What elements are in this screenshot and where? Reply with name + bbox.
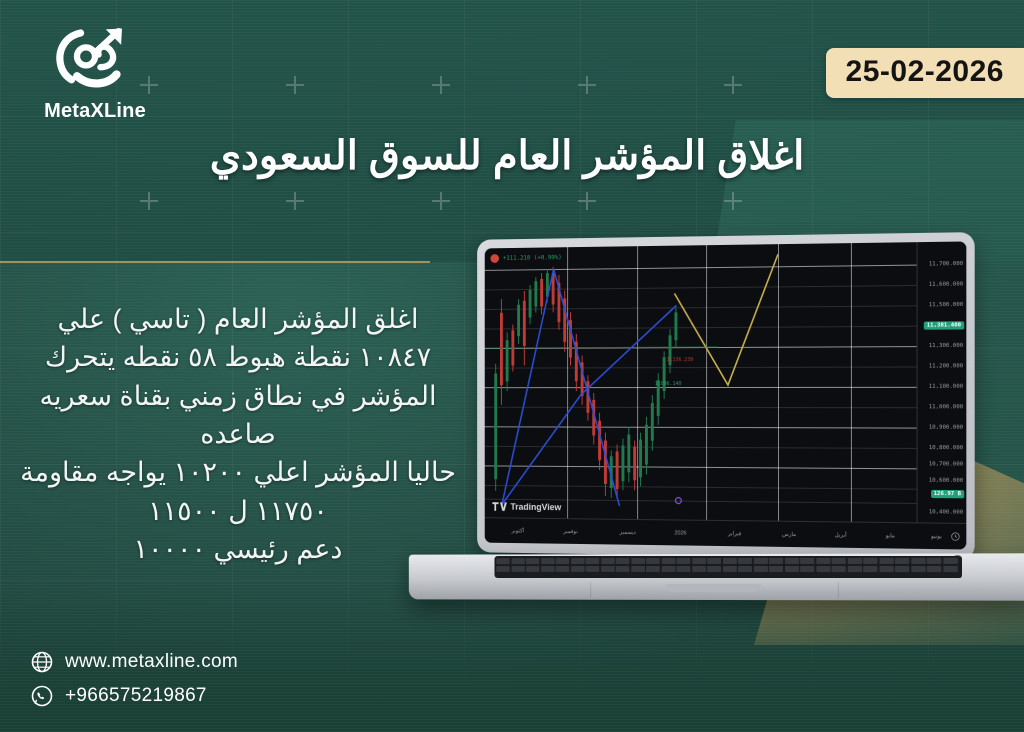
price-tick: 11,500.000 — [929, 302, 963, 308]
time-tick: أبريل — [835, 532, 847, 538]
website-row[interactable]: www.metaxline.com — [30, 650, 238, 674]
time-tick: مارس — [782, 531, 796, 537]
page-title: اغلاق المؤشر العام للسوق السعودي — [150, 131, 864, 181]
chart-overlay-lines — [485, 242, 917, 522]
price-tick: 11,600.000 — [929, 281, 963, 287]
tradingview-mark-icon — [492, 502, 507, 512]
body-copy: اغلق المؤشر العام ( تاسي ) علي ١٠٨٤٧ نقط… — [18, 300, 458, 568]
price-axis[interactable]: 11,700.000 11,600.000 11,500.000 11,381.… — [917, 241, 967, 522]
time-tick: ديسمبر — [620, 529, 636, 535]
phone-text: +966575219867 — [65, 685, 207, 707]
current-price-badge: 11,381.400 — [924, 321, 965, 329]
globe-icon — [30, 650, 54, 674]
footer-contact: www.metaxline.com +966575219867 — [30, 650, 238, 718]
time-tick: نوفمبر — [563, 528, 577, 534]
time-tick: فبراير — [728, 531, 741, 537]
brand-logo: MetaXLine — [30, 24, 160, 123]
body-line: اغلق المؤشر العام ( تاسي ) علي — [18, 300, 458, 338]
price-tick: 11,000.000 — [929, 404, 963, 410]
laptop-mockup: +111.210 (+0.99%) — [398, 236, 1024, 636]
price-tick: 10,400.000 — [929, 509, 963, 516]
laptop-keyboard — [494, 556, 962, 579]
circular-arrow-chart-icon — [49, 24, 141, 96]
chart-annotation: 11136.230 — [667, 357, 694, 363]
body-line: حاليا المؤشر اعلي ١٠٢٠٠ يواجه مقاومة — [18, 453, 458, 491]
price-tick: 10,700.000 — [929, 461, 963, 467]
price-tick: 11,700.000 — [929, 261, 963, 268]
tradingview-logo: TradingView — [492, 502, 561, 513]
price-tick: 11,200.000 — [929, 363, 963, 369]
price-tick: 11,300.000 — [929, 343, 963, 349]
price-tick: 10,800.000 — [929, 445, 963, 451]
brand-name: MetaXLine — [30, 100, 160, 123]
body-line: ١١٧٥٠ ل ١١٥٠٠ — [18, 492, 458, 530]
price-tick: 10,900.000 — [929, 425, 963, 431]
price-tick: 10,600.000 — [929, 478, 963, 484]
volume-badge: 126.97 B — [931, 490, 965, 498]
time-tick: أكتوبر — [511, 528, 524, 534]
website-text: www.metaxline.com — [65, 651, 238, 673]
chart-plot-area: +111.210 (+0.99%) — [485, 242, 917, 522]
body-line: المؤشر في نطاق زمني بقناة سعريه — [18, 377, 458, 415]
body-line: ١٠٨٤٧ نقطة هبوط ٥٨ نقطه يتحرك — [18, 338, 458, 376]
time-axis[interactable]: أكتوبر نوفمبر ديسمبر 2026 فبراير مارس أب… — [485, 517, 967, 549]
tradingview-label: TradingView — [510, 502, 561, 512]
laptop-screen-lid: +111.210 (+0.99%) — [477, 232, 975, 560]
time-tick: يونيو — [931, 533, 942, 539]
clock-icon[interactable] — [951, 532, 960, 541]
time-tick: 2026 — [674, 530, 686, 536]
phone-row[interactable]: +966575219867 — [30, 684, 238, 708]
body-line: صاعده — [18, 415, 458, 453]
chart-screen: +111.210 (+0.99%) — [485, 241, 967, 549]
chart-annotation: 11006.140 — [655, 381, 682, 387]
whatsapp-icon — [30, 684, 54, 708]
date-badge: 25-02-2026 — [826, 48, 1024, 98]
time-tick: مايو — [886, 533, 895, 539]
body-line: دعم رئيسي ١٠٠٠٠ — [18, 530, 458, 568]
price-tick: 11,100.000 — [929, 384, 963, 390]
laptop-trackpad — [590, 582, 839, 598]
